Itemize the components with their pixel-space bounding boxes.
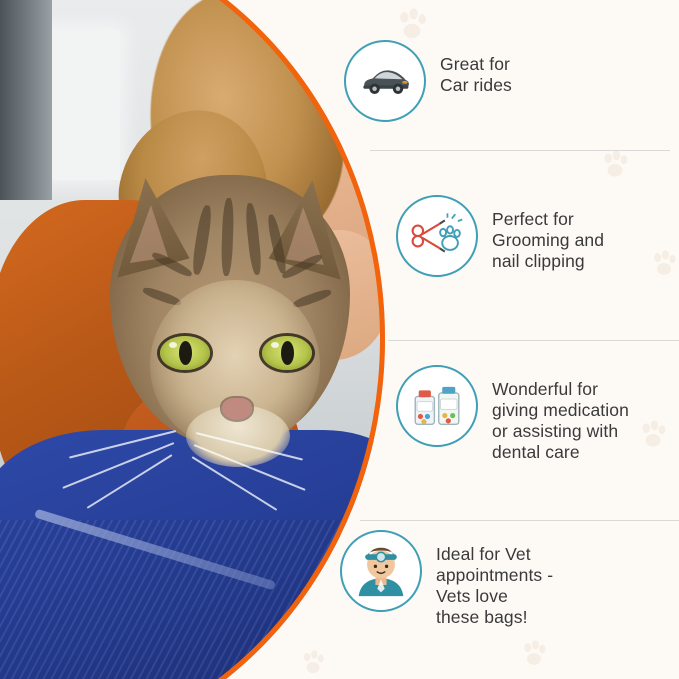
feature-item-grooming: Perfect for Grooming and nail clipping [396, 195, 679, 277]
cat-eye-left [160, 336, 210, 370]
grooming-scissors-paw-icon [410, 211, 464, 261]
veterinarian-icon [353, 544, 409, 598]
cat-nose [222, 398, 252, 420]
feature-item-medication: Wonderful for giving medication or assis… [396, 365, 679, 463]
feature-text: Wonderful for giving medication or assis… [492, 365, 629, 463]
feature-item-vet: Ideal for Vet appointments - Vets love t… [340, 530, 640, 628]
feature-item-car-rides: Great for Car rides [344, 40, 644, 122]
veterinarian-icon-badge [340, 530, 422, 612]
feature-divider [388, 340, 679, 341]
feature-text: Great for Car rides [440, 40, 512, 96]
feature-divider [370, 150, 670, 151]
product-infographic: Great for Car rides [0, 0, 679, 679]
feature-text: Perfect for Grooming and nail clipping [492, 195, 604, 272]
medication-icon-badge [396, 365, 478, 447]
grooming-icon-badge [396, 195, 478, 277]
feature-divider [360, 520, 679, 521]
feature-text: Ideal for Vet appointments - Vets love t… [436, 530, 553, 628]
medication-bottles-icon [410, 382, 464, 430]
feature-list: Great for Car rides [330, 0, 679, 679]
car-icon [359, 64, 411, 98]
car-icon-badge [344, 40, 426, 122]
cat-eye-right [262, 336, 312, 370]
